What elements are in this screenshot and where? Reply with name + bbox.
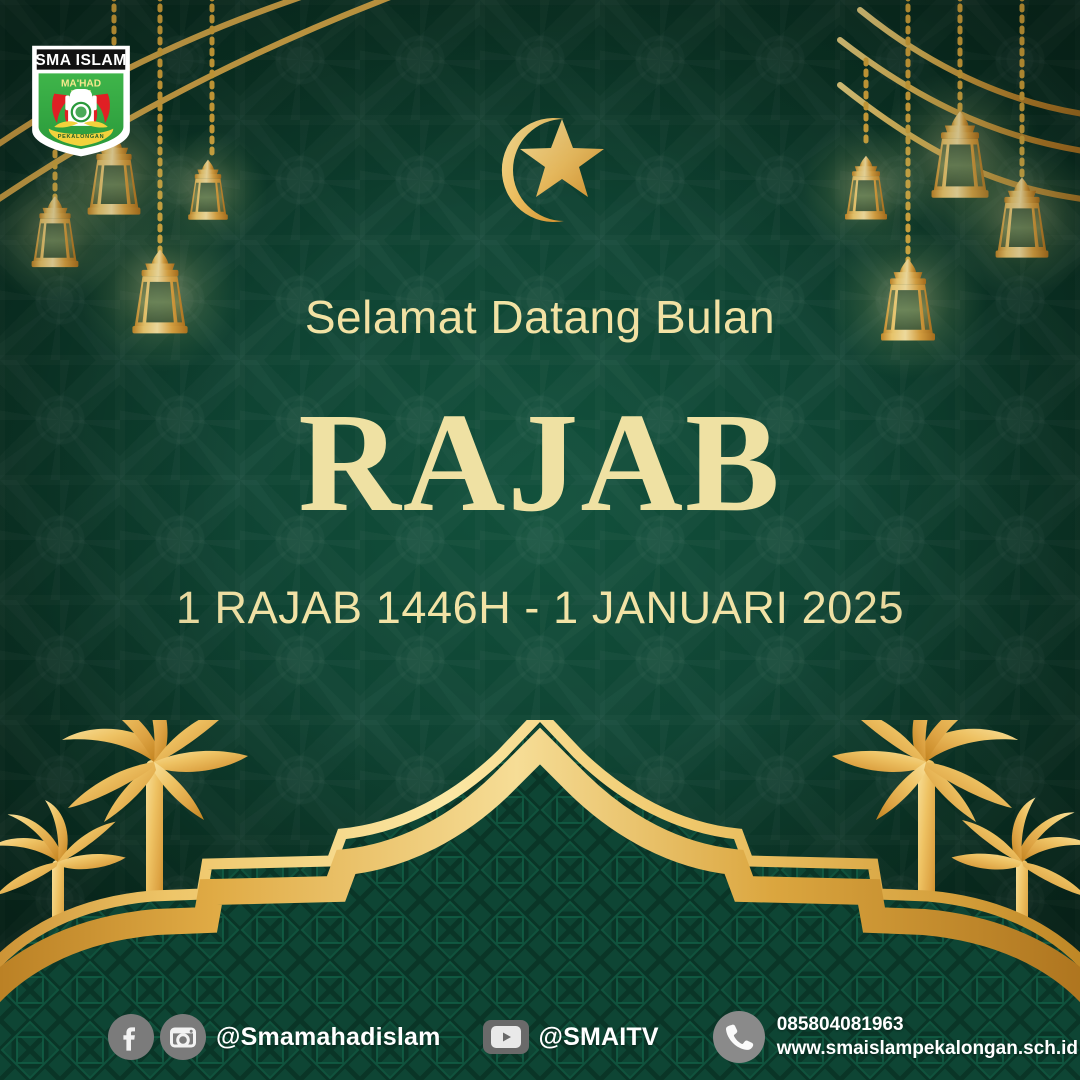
date-line: 1 RAJAB 1446H - 1 JANUARI 2025 bbox=[0, 582, 1080, 634]
contact-text-block: 085804081963 www.smaislampekalongan.sch.… bbox=[777, 1013, 1078, 1062]
poster-canvas: Selamat Datang Bulan RAJAB 1 RAJAB 1446H… bbox=[0, 0, 1080, 1080]
footer-social-group-1[interactable]: @Smamahadislam bbox=[108, 1014, 441, 1060]
logo-crest-top-text: MA'HAD bbox=[61, 78, 101, 89]
instagram-icon[interactable] bbox=[160, 1014, 206, 1060]
youtube-icon[interactable] bbox=[483, 1020, 529, 1054]
footer-contact-bar: @Smamahadislam @SMAITV 085804081963 www.… bbox=[0, 994, 1080, 1080]
youtube-handle: @SMAITV bbox=[539, 1023, 659, 1052]
facebook-icon[interactable] bbox=[108, 1014, 154, 1060]
phone-icon[interactable] bbox=[713, 1011, 765, 1063]
lantern-left-4 bbox=[148, 130, 268, 250]
phone-number: 085804081963 bbox=[777, 1013, 1078, 1037]
instagram-handle: @Smamahadislam bbox=[216, 1023, 441, 1052]
crescent-moon-star-icon bbox=[470, 105, 620, 235]
month-title: RAJAB bbox=[0, 390, 1080, 535]
footer-contact-group[interactable]: 085804081963 www.smaislampekalongan.sch.… bbox=[713, 1011, 1078, 1063]
footer-social-group-2[interactable]: @SMAITV bbox=[483, 1020, 659, 1054]
website-url: www.smaislampekalongan.sch.id bbox=[777, 1037, 1078, 1061]
logo-ribbon-text: PEKALONGAN bbox=[58, 134, 105, 140]
logo-banner-text: SMA ISLAM bbox=[35, 52, 126, 69]
school-logo: SMA ISLAM MA'HAD ISLAM PEKALONGAN bbox=[22, 42, 140, 160]
headline-text: Selamat Datang Bulan bbox=[0, 290, 1080, 344]
